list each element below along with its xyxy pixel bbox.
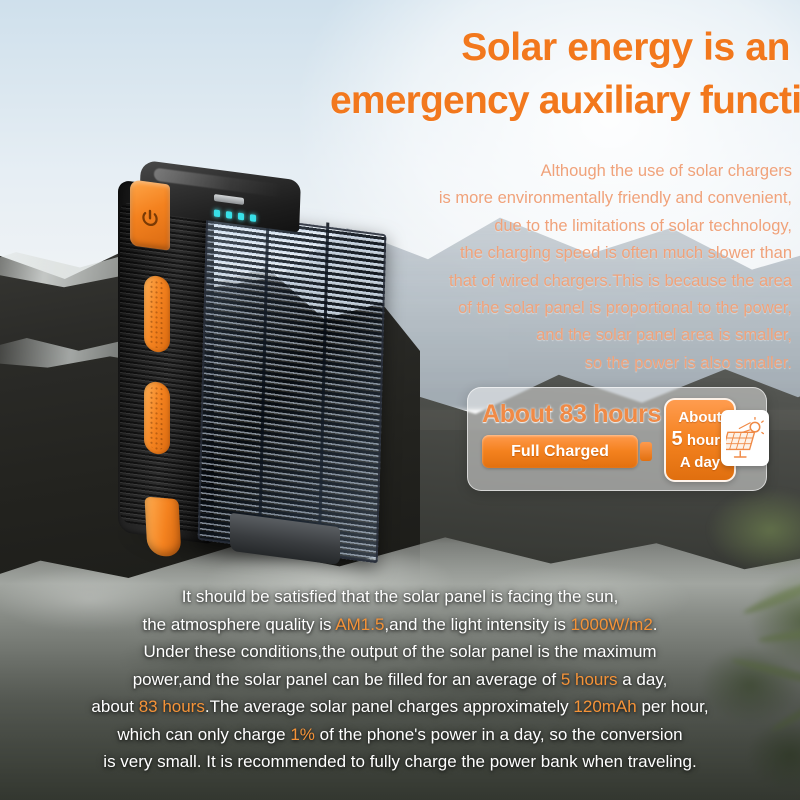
- bottom-text: power,and the solar panel can be filled …: [133, 670, 561, 689]
- led-indicator: [250, 214, 256, 222]
- intro-line: is more environmentally friendly and con…: [300, 185, 792, 212]
- bottom-line-1: It should be satisfied that the solar pa…: [34, 583, 766, 611]
- highlight-5-hours: 5 hours: [561, 670, 618, 689]
- led-indicator: [238, 213, 244, 221]
- bottom-text: .: [653, 615, 658, 634]
- daybox-line-about: About: [678, 408, 721, 427]
- solar-panel-icon: [721, 410, 769, 466]
- highlight-irradiance: 1000W/m2: [571, 615, 653, 634]
- bottom-text: a day,: [618, 670, 668, 689]
- intro-line: and the solar panel area is smaller,: [300, 322, 792, 349]
- bottom-text: of the phone's power in a day, so the co…: [315, 725, 683, 744]
- intro-line: that of wired chargers.This is because t…: [300, 268, 792, 295]
- headline-line-2: emergency auxiliary function: [330, 75, 790, 126]
- bottom-text: per hour,: [637, 697, 709, 716]
- daybox-hours-value: 5: [672, 428, 683, 450]
- bottom-line-6: which can only charge 1% of the phone's …: [34, 721, 766, 749]
- marketing-banner: Solar energy is an emergency auxiliary f…: [0, 0, 800, 800]
- bottom-line-4: power,and the solar panel can be filled …: [34, 666, 766, 694]
- total-charge-hours-label: About 83 hours: [482, 400, 661, 429]
- bottom-line-7: is very small. It is recommended to full…: [34, 748, 766, 776]
- intro-line: the charging speed is often much slower …: [300, 240, 792, 267]
- intro-paragraph: Although the use of solar chargers is mo…: [300, 158, 792, 377]
- side-grip-pad: [144, 274, 170, 353]
- bottom-line-2: the atmosphere quality is AM1.5,and the …: [34, 611, 766, 639]
- daybox-line-value: 5 hours: [672, 427, 729, 453]
- highlight-83-hours: 83 hours: [139, 697, 205, 716]
- highlight-am15: AM1.5: [335, 615, 384, 634]
- bottom-text: ,and the light intensity is: [384, 615, 570, 634]
- battery-terminal: [640, 442, 652, 461]
- battery-label: Full Charged: [482, 435, 638, 468]
- daybox-line-aday: A day: [680, 453, 720, 472]
- bottom-text: .The average solar panel charges approxi…: [205, 697, 574, 716]
- intro-line: so the power is also smaller.: [300, 350, 792, 377]
- bottom-line-3: Under these conditions,the output of the…: [34, 638, 766, 666]
- bottom-line-5: about 83 hours.The average solar panel c…: [34, 693, 766, 721]
- headline: Solar energy is an emergency auxiliary f…: [330, 22, 790, 127]
- highlight-120mah: 120mAh: [573, 697, 636, 716]
- power-button-icon: [139, 207, 161, 232]
- headline-line-1: Solar energy is an: [330, 22, 790, 73]
- bottom-paragraph: It should be satisfied that the solar pa…: [34, 583, 766, 776]
- bottom-text: about: [91, 697, 138, 716]
- intro-line: of the solar panel is proportional to th…: [300, 295, 792, 322]
- intro-line: Although the use of solar chargers: [300, 158, 792, 185]
- full-charged-battery-indicator: Full Charged: [482, 435, 654, 468]
- charge-time-callout-card: About 83 hours Full Charged About 5 hour…: [467, 387, 767, 491]
- carabiner-strap-loop: [145, 496, 182, 557]
- bottom-text: the atmosphere quality is: [142, 615, 335, 634]
- highlight-1-percent: 1%: [290, 725, 315, 744]
- bottom-text: which can only charge: [117, 725, 290, 744]
- led-indicator: [214, 209, 220, 217]
- led-indicator: [226, 211, 232, 219]
- side-grip-pad: [144, 380, 170, 455]
- intro-line: due to the limitations of solar technolo…: [300, 213, 792, 240]
